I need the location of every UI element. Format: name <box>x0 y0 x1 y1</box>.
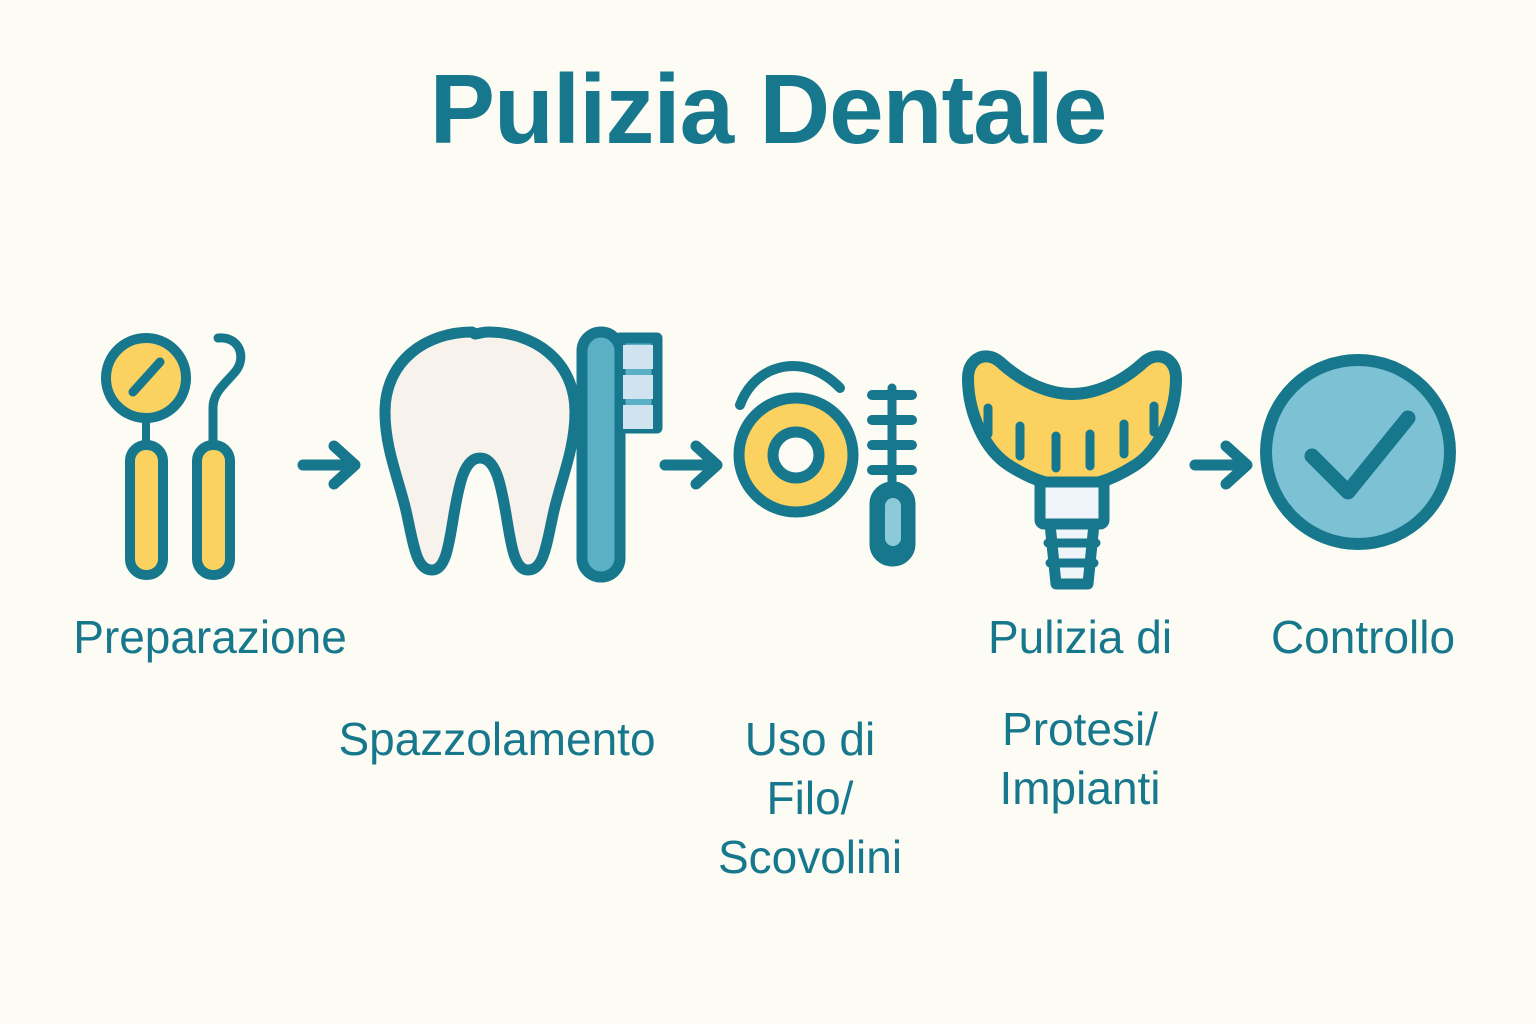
dental-floss-and-interdental-brush-icon <box>728 300 948 600</box>
tooth-and-toothbrush-icon <box>372 300 672 600</box>
step-icon-filo-scovolini <box>728 300 948 600</box>
step-label-preparazione: Preparazione <box>20 608 400 667</box>
check-circle-icon <box>1248 300 1468 600</box>
step-label-filo-scovolini: Uso di Filo/ Scovolini <box>690 710 930 887</box>
steps-icon-row <box>0 300 1536 600</box>
dental-cleaning-infographic: Pulizia Dentale <box>0 0 1536 1024</box>
step-icon-protesi-impianti <box>952 300 1192 600</box>
step-icon-controllo <box>1248 300 1468 600</box>
step-label-pulizia-di: Pulizia di <box>960 608 1200 667</box>
arrow-right-icon <box>655 300 735 600</box>
step-icon-spazzolamento <box>372 300 672 600</box>
step-label-controllo: Controllo <box>1228 608 1498 667</box>
dental-mirror-and-probe-icon <box>95 300 295 600</box>
step-label-spazzolamento: Spazzolamento <box>272 710 722 769</box>
denture-and-implant-icon <box>952 300 1192 600</box>
page-title: Pulizia Dentale <box>0 58 1536 161</box>
step-labels-layer: Preparazione Spazzolamento Uso di Filo/ … <box>0 600 1536 1024</box>
arrow-right-icon <box>293 300 373 600</box>
step-label-protesi-impianti: Protesi/ Impianti <box>960 700 1200 818</box>
arrow-1 <box>293 300 373 600</box>
arrow-2 <box>655 300 735 600</box>
step-icon-preparazione <box>95 300 295 600</box>
